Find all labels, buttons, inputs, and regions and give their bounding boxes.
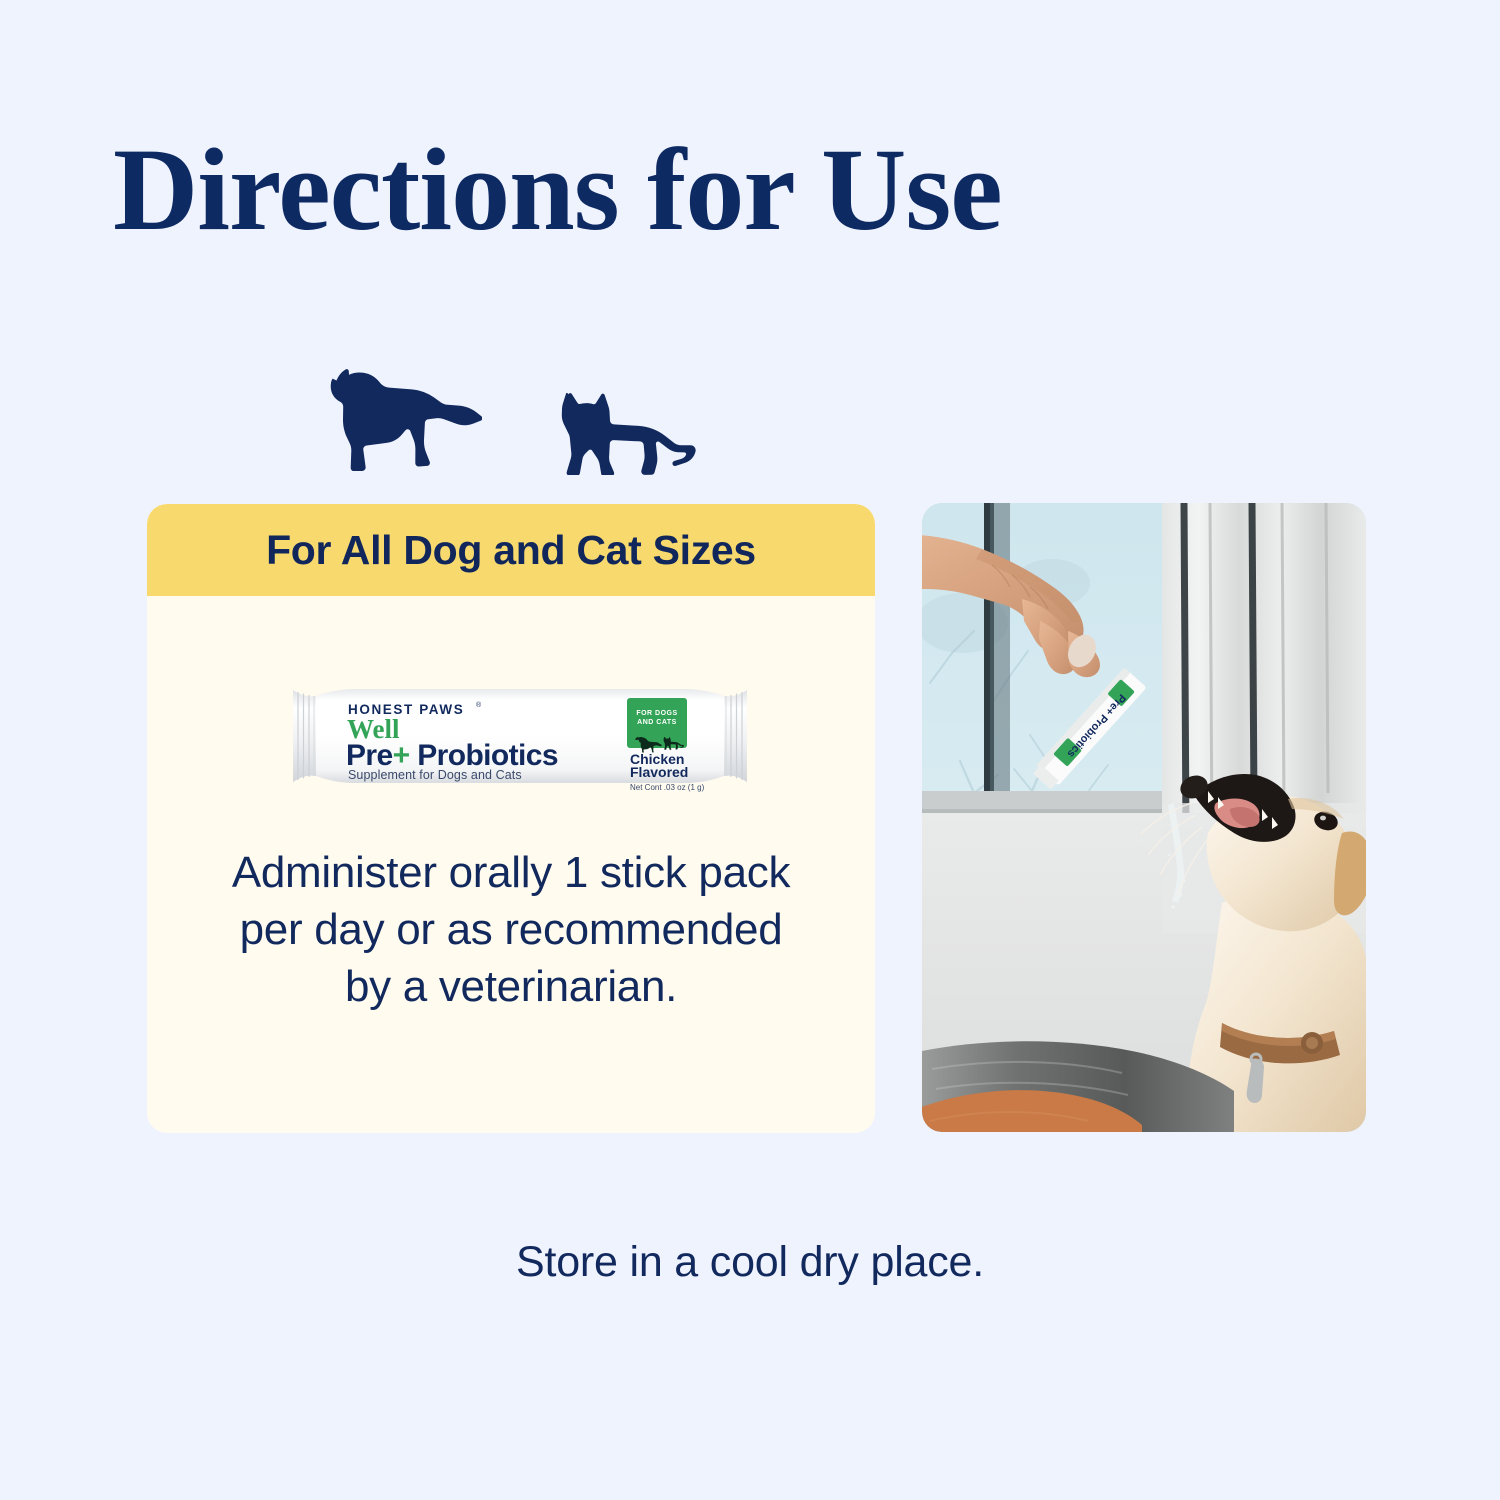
dog-silhouette-icon [322,367,482,471]
dosage-instructions-line-3: by a veterinarian. [345,962,677,1011]
packet-right-seal [724,690,747,782]
dosage-card-header: For All Dog and Cat Sizes [147,504,875,596]
packet-left-seal [293,690,316,782]
page-title: Directions for Use [113,128,1002,252]
badge-line-1: FOR DOGS [636,710,677,717]
cat-silhouette-icon [548,393,700,475]
badge-line-2: AND CATS [637,719,677,726]
packet-net-contents: Net Cont .03 oz (1 g) [630,783,705,792]
packet-for-dogs-and-cats-badge: FOR DOGS AND CATS [627,698,687,753]
packet-flavor-line-2: Flavored [630,764,688,780]
storage-note: Store in a cool dry place. [0,1238,1500,1287]
packet-trademark: ® [476,701,482,709]
dosage-card: For All Dog and Cat Sizes [147,504,875,1133]
packet-subtitle: Supplement for Dogs and Cats [348,768,522,782]
dosage-instructions-line-2: per day or as recommended [240,905,783,954]
usage-photo: Pre+ Probiotics [922,503,1366,1132]
dosage-instructions-line-1: Administer orally 1 stick pack [232,848,790,897]
pet-silhouettes-row [322,363,702,475]
dosage-card-header-label: For All Dog and Cat Sizes [266,527,756,574]
dosage-instructions: Administer orally 1 stick pack per day o… [171,844,851,1016]
product-stick-pack-image: HONEST PAWS ® Well Pre+ Probiotics Suppl… [290,676,750,796]
